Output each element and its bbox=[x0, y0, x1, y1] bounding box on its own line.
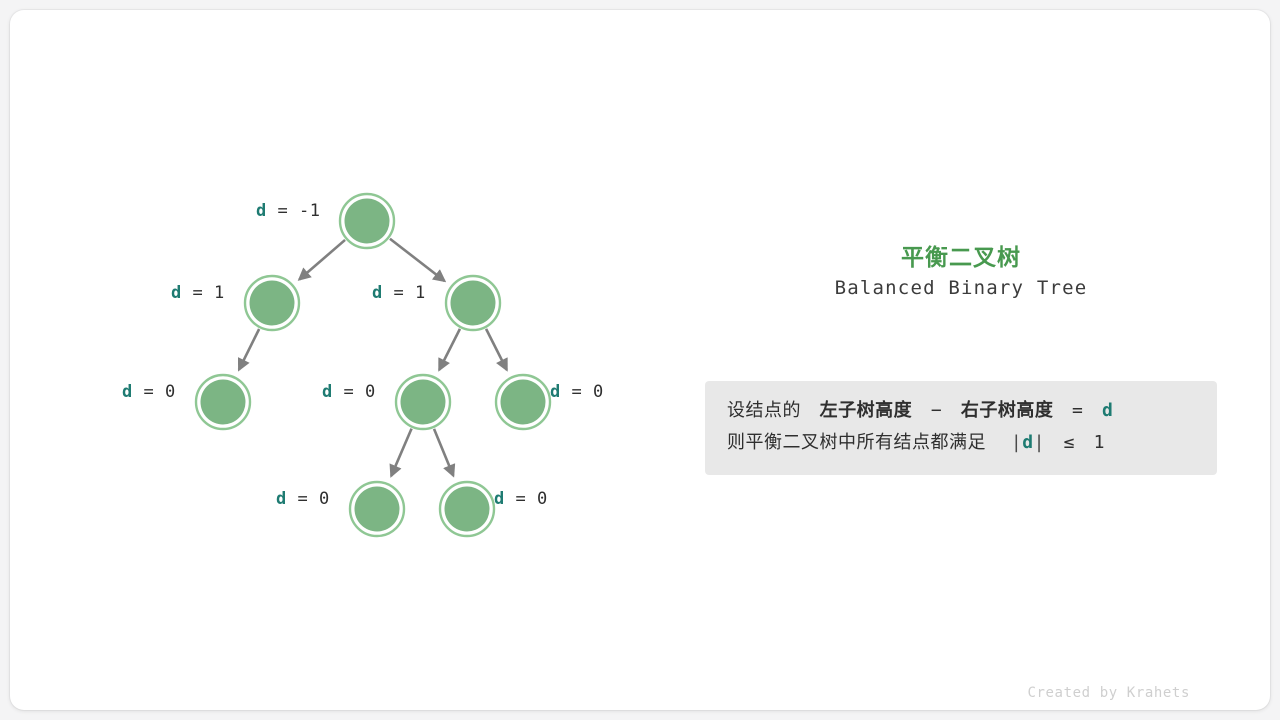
content-card: d = -1d = 1d = 1d = 0d = 0d = 0d = 0d = … bbox=[10, 10, 1270, 710]
node-label-variable: d bbox=[171, 283, 182, 303]
tree-node[interactable] bbox=[245, 276, 299, 330]
node-label-variable: d bbox=[256, 201, 267, 221]
tree-node[interactable] bbox=[446, 276, 500, 330]
node-balance-label: d = -1 bbox=[256, 201, 320, 221]
note-prefix-1: 设结点的 bbox=[727, 400, 801, 421]
node-balance-label: d = 0 bbox=[550, 382, 604, 402]
note-bold-left-height: 左子树高度 bbox=[820, 400, 913, 421]
node-label-value: -1 bbox=[299, 201, 320, 221]
tree-node[interactable] bbox=[350, 482, 404, 536]
tree-edge bbox=[434, 429, 453, 476]
node-balance-label: d = 0 bbox=[276, 489, 330, 509]
node-label-equals: = bbox=[505, 489, 537, 509]
node-balance-label: d = 0 bbox=[494, 489, 548, 509]
note-line-2: 则平衡二叉树中所有结点都满足 |d| ≤ 1 bbox=[727, 427, 1195, 459]
node-label-variable: d bbox=[372, 283, 383, 303]
panel-subtitle: Balanced Binary Tree bbox=[705, 277, 1217, 299]
node-label-value: 0 bbox=[537, 489, 548, 509]
node-label-equals: = bbox=[133, 382, 165, 402]
tree-node-disc bbox=[445, 487, 490, 532]
node-label-equals: = bbox=[182, 283, 214, 303]
info-panel: 平衡二叉树 Balanced Binary Tree 设结点的 左子树高度 − … bbox=[705, 10, 1217, 720]
note-variable-d-2: d bbox=[1022, 432, 1033, 453]
tree-edge bbox=[439, 329, 460, 370]
tree-node[interactable] bbox=[440, 482, 494, 536]
node-label-variable: d bbox=[322, 382, 333, 402]
tree-node-disc bbox=[501, 380, 546, 425]
tree-edge bbox=[391, 429, 411, 476]
node-balance-label: d = 0 bbox=[322, 382, 376, 402]
note-variable-d-1: d bbox=[1102, 400, 1113, 421]
tree-edge bbox=[299, 240, 345, 280]
tree-node[interactable] bbox=[496, 375, 550, 429]
node-label-value: 0 bbox=[365, 382, 376, 402]
node-label-value: 1 bbox=[214, 283, 225, 303]
definition-note-box: 设结点的 左子树高度 − 右子树高度 = d 则平衡二叉树中所有结点都满足 | bbox=[705, 381, 1217, 475]
tree-node-disc bbox=[451, 281, 496, 326]
tree-edge bbox=[486, 329, 507, 370]
note-relation-sign: ≤ bbox=[1064, 432, 1075, 453]
note-bold-right-height: 右子树高度 bbox=[961, 400, 1054, 421]
node-label-variable: d bbox=[276, 489, 287, 509]
binary-tree-diagram: d = -1d = 1d = 1d = 0d = 0d = 0d = 0d = … bbox=[10, 10, 690, 720]
note-minus-sign: − bbox=[931, 400, 942, 421]
credit-text: Created by Krahets bbox=[910, 685, 1190, 701]
node-label-variable: d bbox=[550, 382, 561, 402]
node-label-variable: d bbox=[494, 489, 505, 509]
node-label-value: 0 bbox=[165, 382, 176, 402]
node-label-value: 0 bbox=[593, 382, 604, 402]
tree-node[interactable] bbox=[196, 375, 250, 429]
node-label-variable: d bbox=[122, 382, 133, 402]
note-equals-sign: = bbox=[1072, 400, 1083, 421]
node-label-equals: = bbox=[287, 489, 319, 509]
node-balance-label: d = 0 bbox=[122, 382, 176, 402]
node-label-value: 0 bbox=[319, 489, 330, 509]
node-label-equals: = bbox=[561, 382, 593, 402]
abs-bar-left-icon: | bbox=[1011, 432, 1022, 453]
tree-node-disc bbox=[355, 487, 400, 532]
tree-node[interactable] bbox=[396, 375, 450, 429]
abs-bar-right-icon: | bbox=[1034, 432, 1045, 453]
tree-edge bbox=[390, 239, 445, 281]
tree-node-disc bbox=[250, 281, 295, 326]
tree-nodes bbox=[196, 194, 550, 536]
node-label-equals: = bbox=[267, 201, 299, 221]
screenshot-root: d = -1d = 1d = 1d = 0d = 0d = 0d = 0d = … bbox=[0, 0, 1280, 720]
node-label-equals: = bbox=[383, 283, 415, 303]
node-label-equals: = bbox=[333, 382, 365, 402]
node-balance-label: d = 1 bbox=[171, 283, 225, 303]
note-line-1: 设结点的 左子树高度 − 右子树高度 = d bbox=[727, 395, 1195, 427]
node-label-value: 1 bbox=[415, 283, 426, 303]
tree-svg bbox=[10, 10, 690, 710]
node-balance-label: d = 1 bbox=[372, 283, 426, 303]
tree-edges bbox=[239, 239, 507, 476]
note-prefix-2: 则平衡二叉树中所有结点都满足 bbox=[727, 432, 986, 453]
panel-title: 平衡二叉树 bbox=[705, 238, 1217, 272]
tree-node-disc bbox=[345, 199, 390, 244]
tree-node[interactable] bbox=[340, 194, 394, 248]
tree-node-disc bbox=[201, 380, 246, 425]
note-bound-value: 1 bbox=[1094, 432, 1105, 453]
tree-node-disc bbox=[401, 380, 446, 425]
tree-edge bbox=[239, 329, 259, 370]
